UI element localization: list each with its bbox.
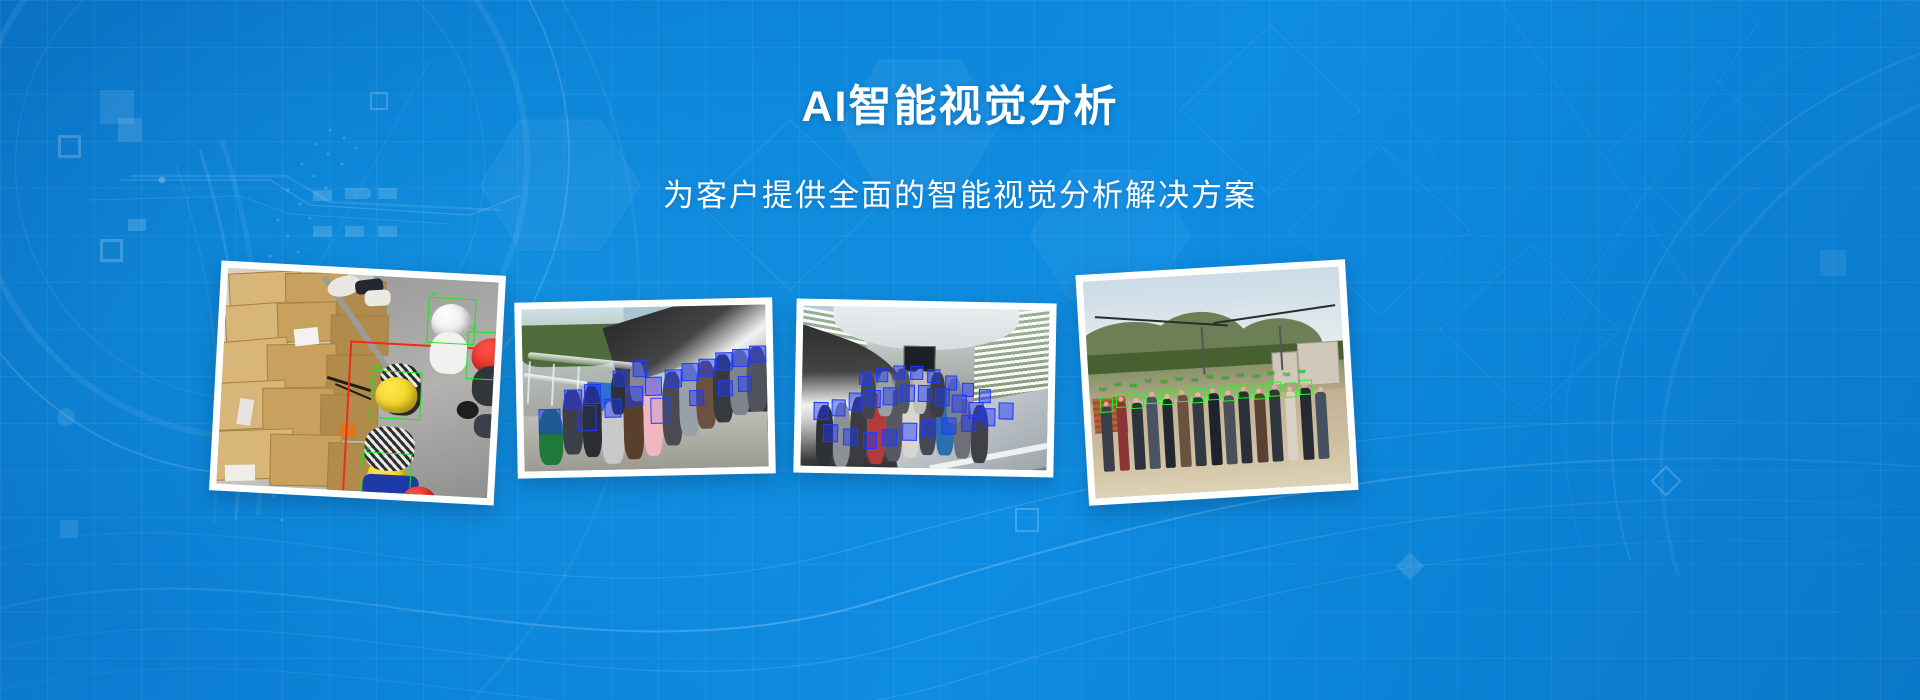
face-detection-box	[876, 368, 889, 383]
hat-detection-label: hat	[1176, 376, 1183, 382]
face-detection-box	[698, 359, 715, 377]
ai-vision-banner: AI智能视觉分析 为客户提供全面的智能视觉分析解决方案	[0, 0, 1920, 700]
hat-detection-label: hat	[1191, 377, 1198, 383]
face-detection-box	[902, 423, 917, 441]
hat-detection-box	[1130, 393, 1144, 409]
decor-diamond-1	[1396, 552, 1424, 580]
face-detection-box	[945, 376, 958, 391]
face-detection-box	[632, 360, 647, 376]
hat-detection-box	[1115, 392, 1129, 408]
face-detection-box	[715, 352, 732, 370]
face-detection-box	[981, 408, 996, 426]
face-detection-box	[866, 390, 881, 408]
hat-detection-label: hat	[1206, 374, 1213, 380]
hat-detection-box	[1238, 383, 1252, 399]
detection-box-helmet-3: hat	[465, 331, 498, 382]
face-detection-box	[732, 349, 749, 367]
photo-outdoor-group: hat hat hat hat hat hat hat hat hat hat	[1083, 267, 1351, 499]
face-detection-box	[538, 409, 560, 434]
photo-station-escalator	[800, 306, 1049, 471]
hat-detection-box	[1100, 397, 1114, 413]
face-detection-box	[979, 389, 992, 404]
hat-detection-box	[1268, 381, 1282, 397]
face-detection-box	[859, 371, 872, 386]
face-detection-box	[961, 414, 976, 432]
hat-detection-label: hat	[1099, 387, 1106, 393]
face-detection-box	[928, 369, 941, 384]
decor-square-solid-1	[128, 219, 146, 231]
photo-card-footbridge-crowd-detection[interactable]	[514, 297, 776, 478]
face-detection-box	[910, 365, 923, 380]
hat-detection-box	[1222, 386, 1236, 402]
face-detection-box	[664, 369, 681, 387]
hat-detection-label: hat	[1268, 370, 1275, 376]
face-detection-box	[584, 384, 601, 404]
hat-detection-box	[1192, 388, 1206, 404]
hat-detection-box	[1284, 382, 1298, 398]
face-detection-box	[922, 420, 937, 438]
face-detection-box	[843, 428, 858, 446]
face-detection-box	[962, 382, 975, 397]
face-detection-box	[650, 397, 670, 423]
hat-detection-box	[1299, 379, 1313, 395]
face-detection-box	[998, 402, 1013, 420]
face-detection-box	[718, 380, 733, 396]
hat-detection-box	[1146, 388, 1160, 404]
photo-card-warehouse-helmet-detection[interactable]: hat hat hat hat	[209, 260, 506, 505]
face-detection-box	[681, 363, 698, 381]
face-detection-box	[613, 371, 628, 387]
hat-detection-box	[1207, 385, 1221, 401]
photo-card-outdoor-hat-detection[interactable]: hat hat hat hat hat hat hat hat hat hat	[1075, 259, 1358, 506]
hat-detection-label: hat	[1145, 378, 1152, 384]
face-detection-box	[917, 385, 932, 403]
face-detection-box	[577, 405, 597, 431]
face-detection-box	[848, 393, 863, 411]
face-detection-box	[831, 399, 846, 417]
detection-box-helmet-1: hat	[370, 370, 423, 421]
face-detection-box	[814, 402, 829, 420]
hat-detection-box	[1176, 386, 1190, 402]
photo-footbridge-crowd	[521, 304, 768, 471]
hat-detection-label: hat	[1252, 373, 1259, 379]
hat-detection-box	[1253, 384, 1267, 400]
face-detection-box	[604, 398, 621, 418]
face-detection-box	[883, 387, 898, 405]
detection-label-hat: hat	[374, 363, 381, 371]
hat-detection-label: hat	[1114, 382, 1121, 388]
hat-detection-label: hat	[1298, 369, 1305, 375]
face-detection-box	[900, 384, 915, 402]
decor-square-solid-7	[378, 226, 397, 237]
face-detection-box	[737, 376, 752, 392]
face-detection-box	[882, 429, 897, 447]
photo-card-station-escalator-detection[interactable]	[793, 299, 1056, 478]
hat-detection-label: hat	[1222, 375, 1229, 381]
face-detection-box	[625, 386, 642, 406]
photo-card-row: hat hat hat hat	[0, 258, 1920, 528]
face-detection-box	[645, 376, 662, 396]
photo-warehouse-overhead: hat hat hat hat	[216, 268, 498, 498]
face-detection-box	[893, 365, 906, 380]
face-detection-box	[934, 388, 949, 406]
face-detection-box	[862, 432, 877, 450]
hat-detection-label: hat	[1237, 372, 1244, 378]
face-detection-box	[749, 345, 766, 363]
page-subtitle: 为客户提供全面的智能视觉分析解决方案	[0, 177, 1920, 214]
decor-square-solid-6	[345, 226, 364, 237]
decor-square-solid-5	[313, 226, 332, 237]
hat-detection-box	[1161, 389, 1175, 405]
hat-detection-label: hat	[1283, 372, 1290, 378]
face-detection-box	[952, 395, 967, 413]
face-detection-box	[689, 390, 704, 406]
page-title: AI智能视觉分析	[0, 84, 1920, 131]
face-detection-box	[823, 424, 838, 442]
face-detection-box	[941, 417, 956, 435]
hat-detection-label: hat	[1130, 383, 1137, 389]
hat-detection-label: hat	[1160, 379, 1167, 385]
banner-copy: AI智能视觉分析 为客户提供全面的智能视觉分析解决方案	[0, 84, 1920, 214]
